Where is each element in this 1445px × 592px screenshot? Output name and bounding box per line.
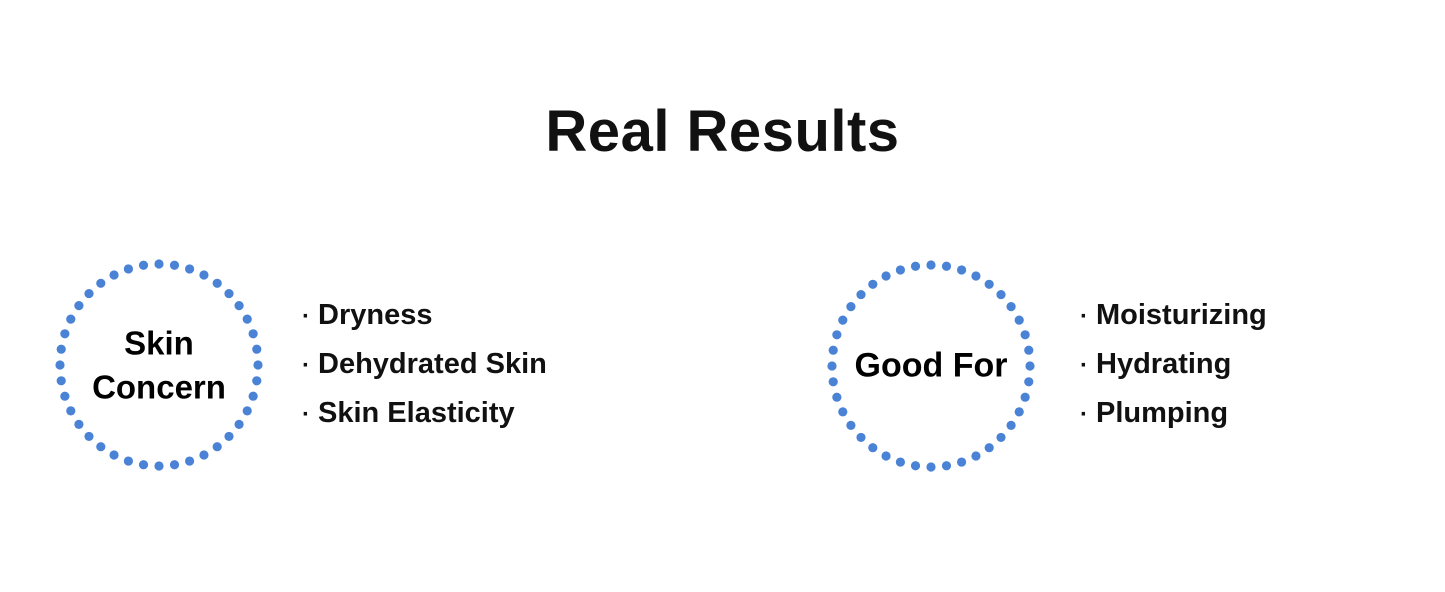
- section-skin-concern: Skin Concern · Dryness · Dehydrated Skin…: [58, 262, 547, 468]
- bullet-icon: ·: [1080, 354, 1096, 378]
- good-for-circle-label: Good For: [806, 347, 1056, 384]
- list-item-label: Skin Elasticity: [318, 399, 515, 428]
- bullet-icon: ·: [302, 403, 318, 427]
- list-item: · Dehydrated Skin: [302, 350, 547, 379]
- list-item-label: Plumping: [1096, 399, 1228, 428]
- good-for-list: · Moisturizing · Hydrating · Plumping: [1080, 301, 1267, 428]
- bullet-icon: ·: [1080, 403, 1096, 427]
- skin-concern-list: · Dryness · Dehydrated Skin · Skin Elast…: [302, 301, 547, 428]
- bullet-icon: ·: [1080, 305, 1096, 329]
- list-item: · Skin Elasticity: [302, 399, 547, 428]
- list-item: · Moisturizing: [1080, 301, 1267, 330]
- section-good-for: Good For · Moisturizing · Hydrating · Pl…: [830, 263, 1267, 469]
- page-title: Real Results: [0, 103, 1445, 161]
- skin-concern-circle-label: Skin Concern: [44, 321, 274, 408]
- list-item-label: Hydrating: [1096, 350, 1231, 379]
- list-item-label: Dryness: [318, 301, 432, 330]
- skin-concern-circle-badge: Skin Concern: [58, 262, 260, 468]
- list-item: · Hydrating: [1080, 350, 1267, 379]
- list-item-label: Dehydrated Skin: [318, 350, 547, 379]
- list-item-label: Moisturizing: [1096, 301, 1267, 330]
- bullet-icon: ·: [302, 354, 318, 378]
- bullet-icon: ·: [302, 305, 318, 329]
- good-for-circle-badge: Good For: [830, 263, 1032, 469]
- list-item: · Plumping: [1080, 399, 1267, 428]
- real-results-panel: Real Results Skin Concern · Dryness · De…: [0, 0, 1445, 592]
- list-item: · Dryness: [302, 301, 547, 330]
